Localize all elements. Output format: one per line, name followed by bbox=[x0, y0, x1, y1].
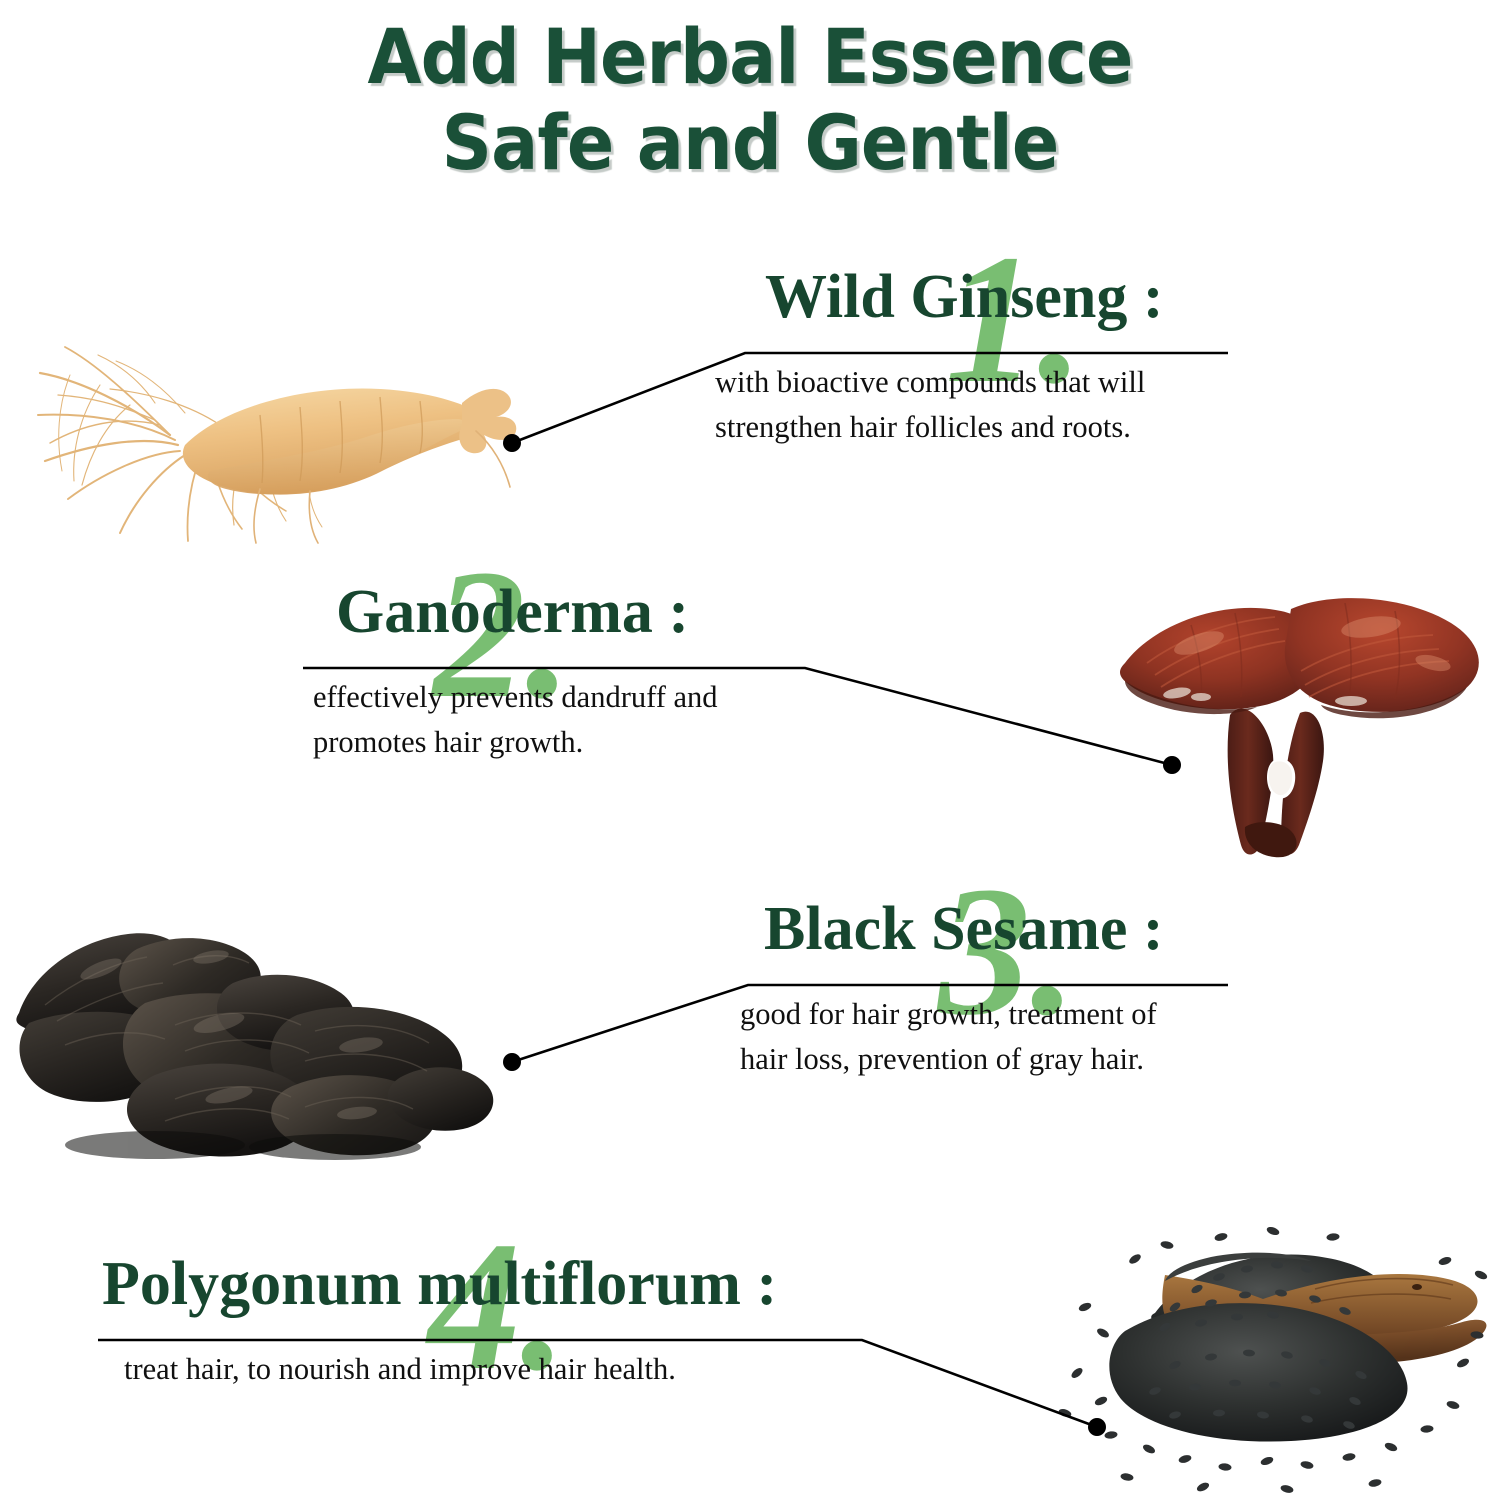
ingredient-body-1-line-2: strengthen hair follicles and roots. bbox=[715, 405, 1265, 450]
page-title-line-1: Add Herbal Essence bbox=[60, 14, 1440, 100]
page-title-line-2: Safe and Gentle bbox=[60, 100, 1440, 186]
ingredient-body-3-line-1: good for hair growth, treatment of bbox=[740, 992, 1268, 1037]
ingredient-heading-2: Ganoderma : bbox=[336, 577, 843, 647]
ingredient-body-2-line-2: promotes hair growth. bbox=[313, 720, 843, 765]
ingredient-block-1: 1. Wild Ginseng : with bioactive compoun… bbox=[745, 262, 1265, 450]
ingredient-body-2-line-1: effectively prevents dandruff and bbox=[313, 675, 843, 720]
page-title: Add Herbal Essence Safe and Gentle bbox=[0, 14, 1500, 186]
ingredient-body-4-line-1: treat hair, to nourish and improve hair … bbox=[124, 1347, 918, 1392]
connector-dot-3 bbox=[503, 1053, 521, 1071]
ingredient-block-4: 4. Polygonum multiflorum : treat hair, t… bbox=[98, 1249, 918, 1392]
ingredient-heading-3: Black Sesame : bbox=[764, 894, 1268, 964]
ingredient-body-3-line-2: hair loss, prevention of gray hair. bbox=[740, 1037, 1268, 1082]
ingredient-body-1-line-1: with bioactive compounds that will bbox=[715, 360, 1265, 405]
ganoderma-reishi-mushroom-photo bbox=[1095, 565, 1495, 865]
wild-ginseng-root-photo bbox=[10, 285, 530, 555]
herbal-ingredients-infographic: Add Herbal Essence Safe and Gentle bbox=[0, 0, 1500, 1500]
ingredient-heading-1: Wild Ginseng : bbox=[765, 262, 1265, 332]
dried-black-slices-photo bbox=[5, 895, 505, 1185]
ingredient-heading-4: Polygonum multiflorum : bbox=[102, 1249, 918, 1319]
ingredient-block-2: 2. Ganoderma : effectively prevents dand… bbox=[303, 577, 843, 765]
black-sesame-seeds-with-wooden-scoop-photo bbox=[1015, 1215, 1500, 1500]
ingredient-block-3: 3. Black Sesame : good for hair growth, … bbox=[748, 894, 1268, 1082]
